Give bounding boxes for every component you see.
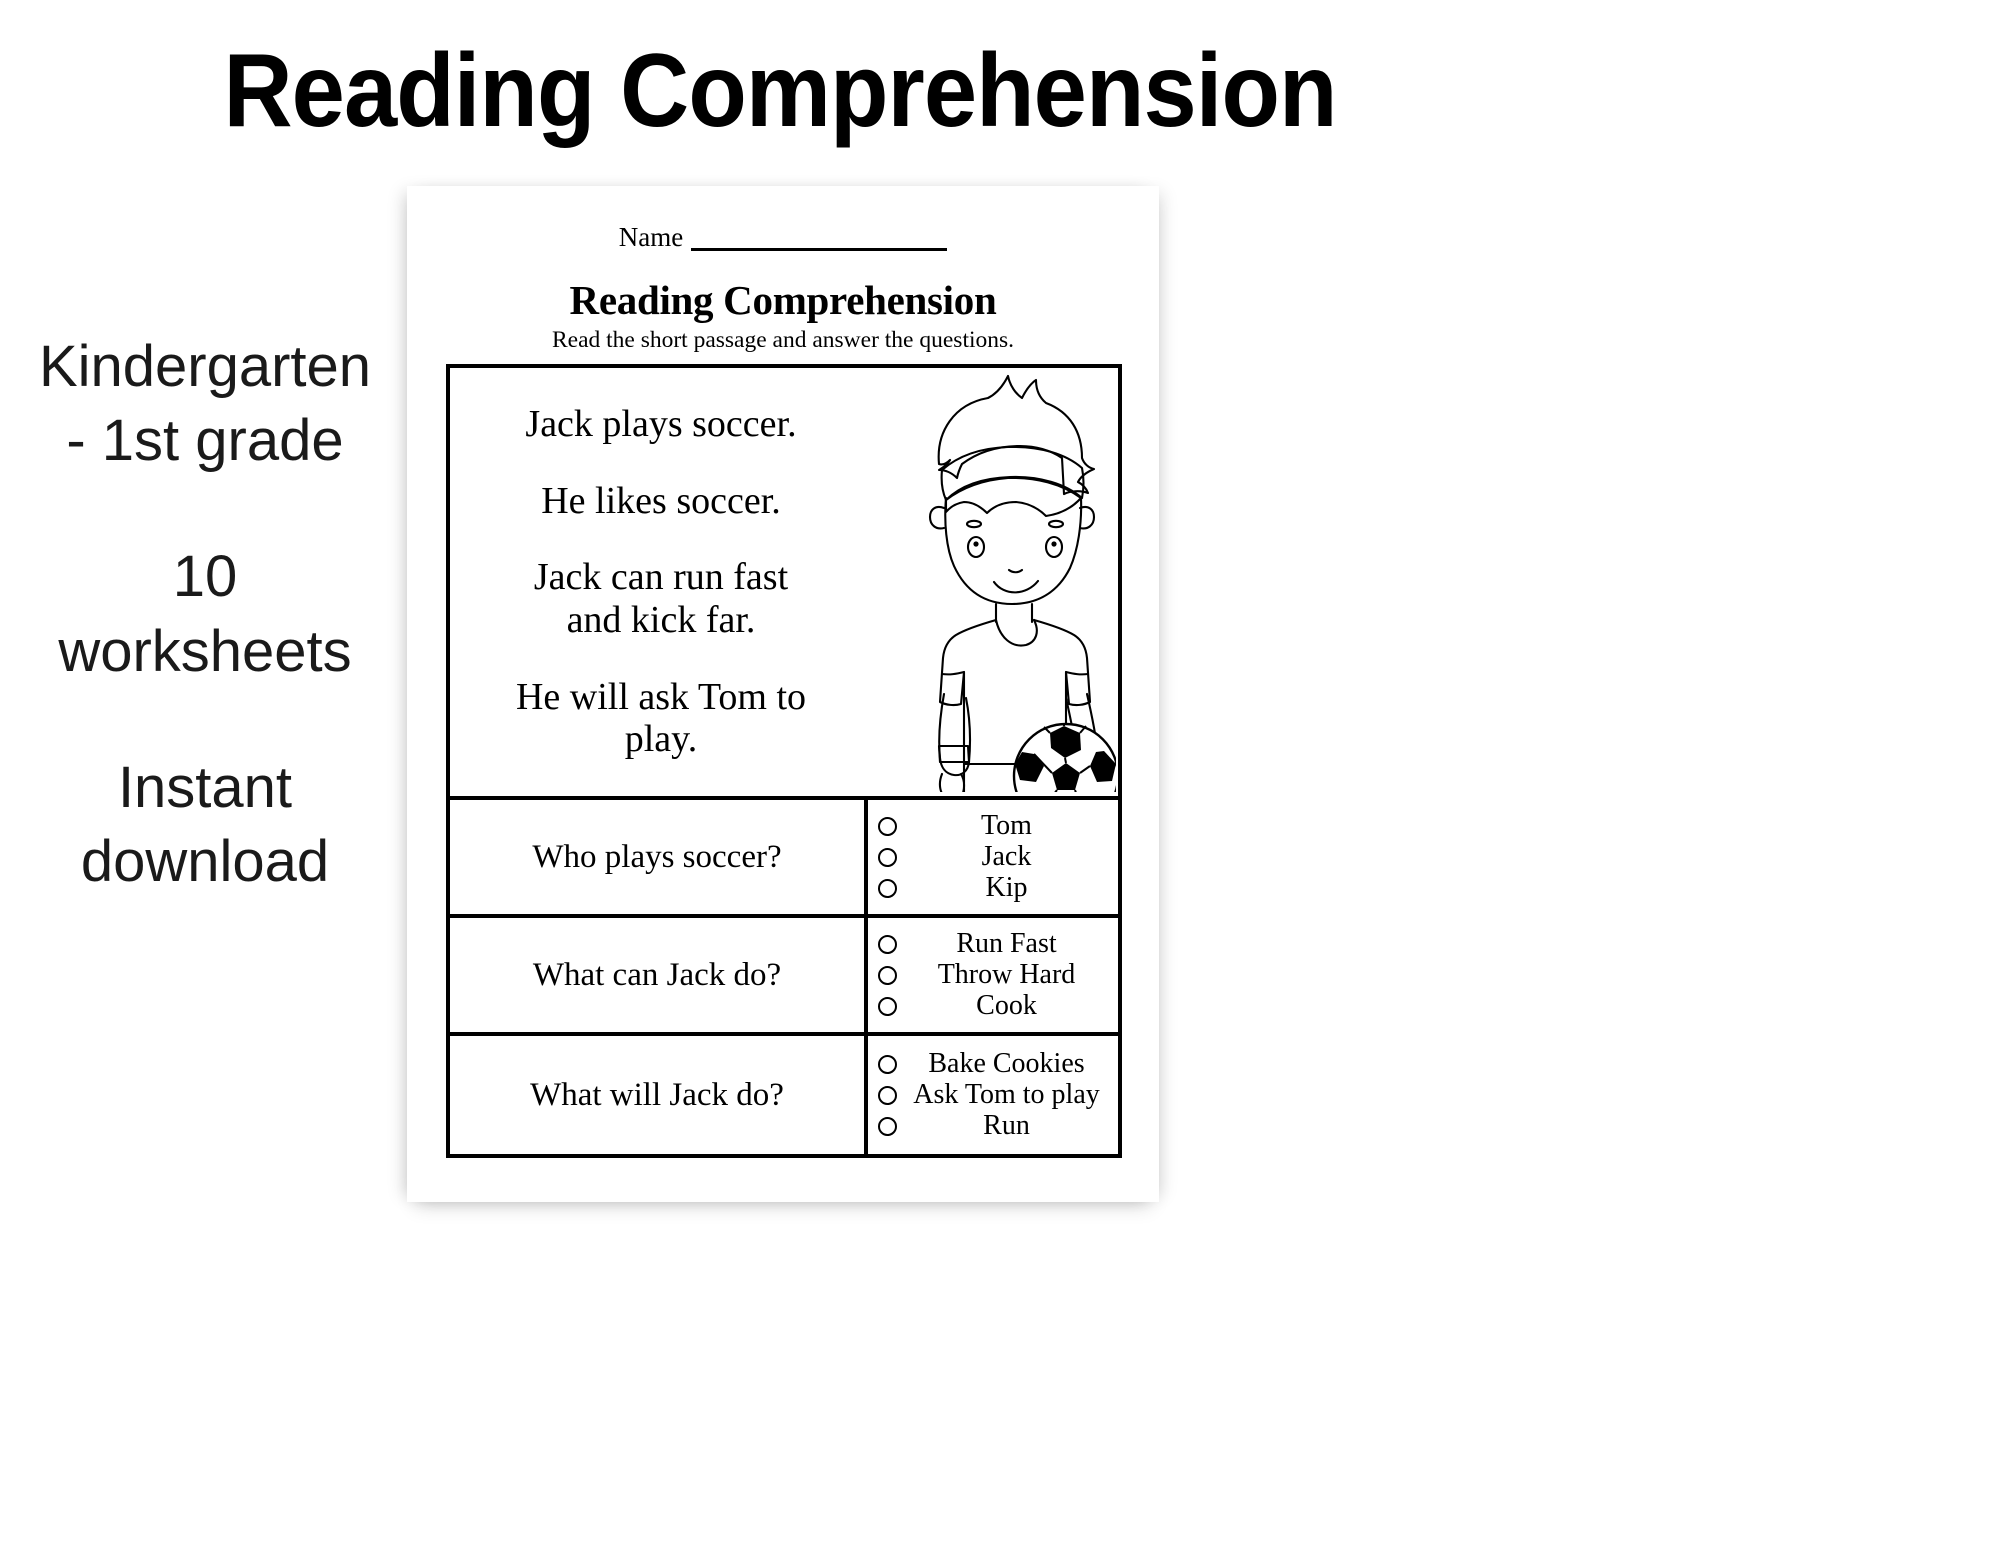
option-bubble-icon[interactable] — [878, 1117, 897, 1136]
option-bubble-icon[interactable] — [878, 848, 897, 867]
option-bubble-icon[interactable] — [878, 1055, 897, 1074]
option-row[interactable]: Cook — [878, 991, 1110, 1022]
question-cell: Who plays soccer? — [450, 800, 868, 914]
banner-title: Reading Comprehension — [62, 34, 1497, 148]
option-bubble-icon[interactable] — [878, 1086, 897, 1105]
passage-line: He will ask Tom to play. — [516, 676, 806, 761]
passage-line: He likes soccer. — [541, 480, 781, 523]
question-row: What can Jack do? Run Fast Throw Hard Co… — [450, 918, 1118, 1036]
option-row[interactable]: Kip — [878, 873, 1110, 904]
question-text: What will Jack do? — [530, 1077, 784, 1114]
option-label: Run Fast — [903, 930, 1110, 958]
option-bubble-icon[interactable] — [878, 817, 897, 836]
promo-line-count: 10 worksheets — [0, 540, 410, 688]
option-bubble-icon[interactable] — [878, 966, 897, 985]
name-blank-line[interactable] — [691, 222, 947, 251]
illustration-cell — [868, 368, 1118, 796]
promo-line-grade: Kindergarten - 1st grade — [0, 330, 410, 478]
worksheet-listing-image: Reading Comprehension Kindergarten - 1st… — [0, 0, 2000, 1550]
question-text: What can Jack do? — [533, 957, 781, 994]
promo-line-delivery: Instant download — [0, 751, 410, 899]
passage-row: Jack plays soccer. He likes soccer. Jack… — [450, 368, 1118, 800]
passage-cell: Jack plays soccer. He likes soccer. Jack… — [450, 368, 868, 796]
name-row: Name — [407, 222, 1159, 251]
option-bubble-icon[interactable] — [878, 997, 897, 1016]
worksheet-subtitle: Read the short passage and answer the qu… — [407, 327, 1159, 354]
option-bubble-icon[interactable] — [878, 935, 897, 954]
soccer-boy-illustration — [870, 372, 1116, 792]
option-label: Throw Hard — [903, 961, 1110, 989]
option-row[interactable]: Tom — [878, 811, 1110, 842]
option-label: Cook — [903, 992, 1110, 1020]
question-cell: What can Jack do? — [450, 918, 868, 1032]
option-label: Tom — [903, 812, 1110, 840]
option-bubble-icon[interactable] — [878, 879, 897, 898]
option-label: Ask Tom to play — [903, 1081, 1110, 1109]
options-cell: Run Fast Throw Hard Cook — [868, 918, 1118, 1032]
name-label: Name — [619, 224, 691, 251]
option-row[interactable]: Run — [878, 1111, 1110, 1142]
options-cell: Bake Cookies Ask Tom to play Run — [868, 1036, 1118, 1154]
worksheet-paper: Name Reading Comprehension Read the shor… — [407, 186, 1159, 1202]
question-cell: What will Jack do? — [450, 1036, 868, 1154]
option-label: Bake Cookies — [903, 1050, 1110, 1078]
option-row[interactable]: Run Fast — [878, 929, 1110, 960]
question-row: Who plays soccer? Tom Jack Kip — [450, 800, 1118, 918]
passage-line: Jack can run fast and kick far. — [534, 556, 788, 641]
options-cell: Tom Jack Kip — [868, 800, 1118, 914]
option-label: Jack — [903, 843, 1110, 871]
promo-column: Kindergarten - 1st grade 10 worksheets I… — [0, 330, 410, 899]
passage-line: Jack plays soccer. — [525, 403, 796, 446]
option-row[interactable]: Bake Cookies — [878, 1049, 1110, 1080]
option-label: Run — [903, 1112, 1110, 1140]
option-row[interactable]: Throw Hard — [878, 960, 1110, 991]
worksheet-table: Jack plays soccer. He likes soccer. Jack… — [446, 364, 1122, 1158]
worksheet-title: Reading Comprehension — [407, 276, 1159, 324]
option-label: Kip — [903, 874, 1110, 902]
option-row[interactable]: Ask Tom to play — [878, 1080, 1110, 1111]
question-text: Who plays soccer? — [532, 839, 781, 876]
question-row: What will Jack do? Bake Cookies Ask Tom … — [450, 1036, 1118, 1154]
option-row[interactable]: Jack — [878, 842, 1110, 873]
